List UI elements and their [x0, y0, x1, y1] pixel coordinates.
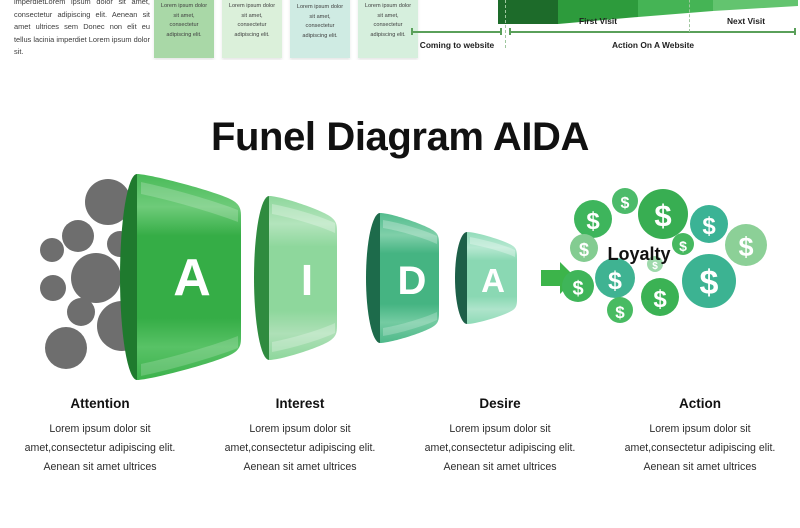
coin: $ [574, 200, 612, 238]
funnel-letter-a-attention: A [173, 249, 211, 307]
caption-row: Attention Lorem ipsum dolor sit amet,con… [0, 396, 800, 477]
timeline-divider [505, 0, 506, 48]
top-card-row: Lorem ipsum dolor sit amet, consectetur … [154, 0, 418, 58]
top-paragraph: imperdietLorem ipsum dolor sit amet, con… [14, 0, 150, 59]
caption-title: Interest [214, 396, 386, 411]
svg-text:$: $ [621, 195, 630, 212]
timeline-label-action-on-website: Action On A Website [510, 40, 796, 50]
timeline-bar-right [510, 31, 796, 33]
caption-title: Action [614, 396, 786, 411]
funnel-letter-i-interest: I [301, 256, 313, 305]
funnel-letter-d-desire: D [398, 259, 427, 303]
page-title: Funel Diagram AIDA [0, 115, 800, 160]
traffic-dot [67, 298, 95, 326]
svg-text:$: $ [572, 278, 583, 300]
coin: $ [672, 233, 694, 255]
caption-body: Lorem ipsum dolor sit amet,consectetur a… [214, 420, 386, 477]
top-card[interactable]: Lorem ipsum dolor sit amet, consectetur … [222, 0, 282, 58]
funnel-letter-a-action: A [481, 262, 505, 299]
coin: $ [612, 188, 638, 214]
timeline-divider [689, 0, 690, 32]
caption-body: Lorem ipsum dolor sit amet,consectetur a… [414, 420, 586, 477]
timeline-label-coming-to-website: Coming to website [412, 40, 502, 50]
svg-text:$: $ [702, 213, 716, 240]
funnel-segment-interest[interactable]: I [254, 196, 337, 360]
timeline-label-next-visit: Next Visit [698, 16, 794, 26]
timeline-cap [794, 28, 796, 35]
coin: $ [725, 224, 767, 266]
top-card[interactable]: Lorem ipsum dolor sit amet, consectetur … [290, 0, 350, 58]
svg-text:$: $ [586, 208, 600, 235]
traffic-dot [71, 253, 121, 303]
caption-title: Desire [414, 396, 586, 411]
svg-text:$: $ [653, 286, 667, 313]
top-card[interactable]: Lorem ipsum dolor sit amet, consectetur … [154, 0, 214, 58]
caption-body: Lorem ipsum dolor sit amet,consectetur a… [14, 420, 186, 477]
timeline-bar-left [412, 31, 502, 33]
coin: $ [690, 205, 728, 243]
funnel-diagram-graphic: A I D A $ $ [0, 168, 800, 383]
coin: $ [562, 270, 594, 302]
svg-text:$: $ [579, 240, 589, 260]
caption-attention: Attention Lorem ipsum dolor sit amet,con… [0, 396, 200, 477]
caption-desire: Desire Lorem ipsum dolor sit amet,consec… [400, 396, 600, 477]
top-strip-section: imperdietLorem ipsum dolor sit amet, con… [0, 0, 800, 60]
coin: $ [607, 297, 633, 323]
timeline-cap [411, 28, 413, 35]
funnel-segment-desire[interactable]: D [366, 213, 439, 343]
traffic-dot [62, 220, 94, 252]
top-timeline: Coming to website Action On A Website Fi… [408, 0, 800, 60]
svg-text:$: $ [654, 198, 671, 233]
svg-text:$: $ [615, 303, 625, 322]
caption-interest: Interest Lorem ipsum dolor sit amet,cons… [200, 396, 400, 477]
svg-text:$: $ [700, 264, 719, 302]
svg-text:$: $ [738, 232, 753, 262]
traffic-dot [40, 275, 66, 301]
loyalty-label: Loyalty [607, 244, 670, 264]
traffic-dot [45, 327, 87, 369]
coin: $ [570, 234, 598, 262]
timeline-label-first-visit: First Visit [538, 16, 658, 26]
caption-action: Action Lorem ipsum dolor sit amet,consec… [600, 396, 800, 477]
timeline-cap [509, 28, 511, 35]
funnel-segment-action[interactable]: A [455, 232, 517, 324]
top-card-text: Lorem ipsum dolor sit amet, consectetur … [297, 4, 343, 39]
caption-title: Attention [14, 396, 186, 411]
traffic-dot [40, 238, 64, 262]
coin: $ [682, 254, 736, 308]
svg-text:$: $ [679, 238, 687, 254]
top-card-text: Lorem ipsum dolor sit amet, consectetur … [229, 3, 275, 38]
timeline-cap [500, 28, 502, 35]
top-card-text: Lorem ipsum dolor sit amet, consectetur … [365, 3, 411, 38]
coin: $ [641, 278, 679, 316]
top-card-text: Lorem ipsum dolor sit amet, consectetur … [161, 3, 207, 38]
caption-body: Lorem ipsum dolor sit amet,consectetur a… [614, 420, 786, 477]
coin: $ [638, 189, 688, 239]
funnel-segment-attention[interactable]: A [120, 174, 241, 380]
svg-text:$: $ [608, 267, 622, 295]
coin: $ [595, 258, 635, 298]
